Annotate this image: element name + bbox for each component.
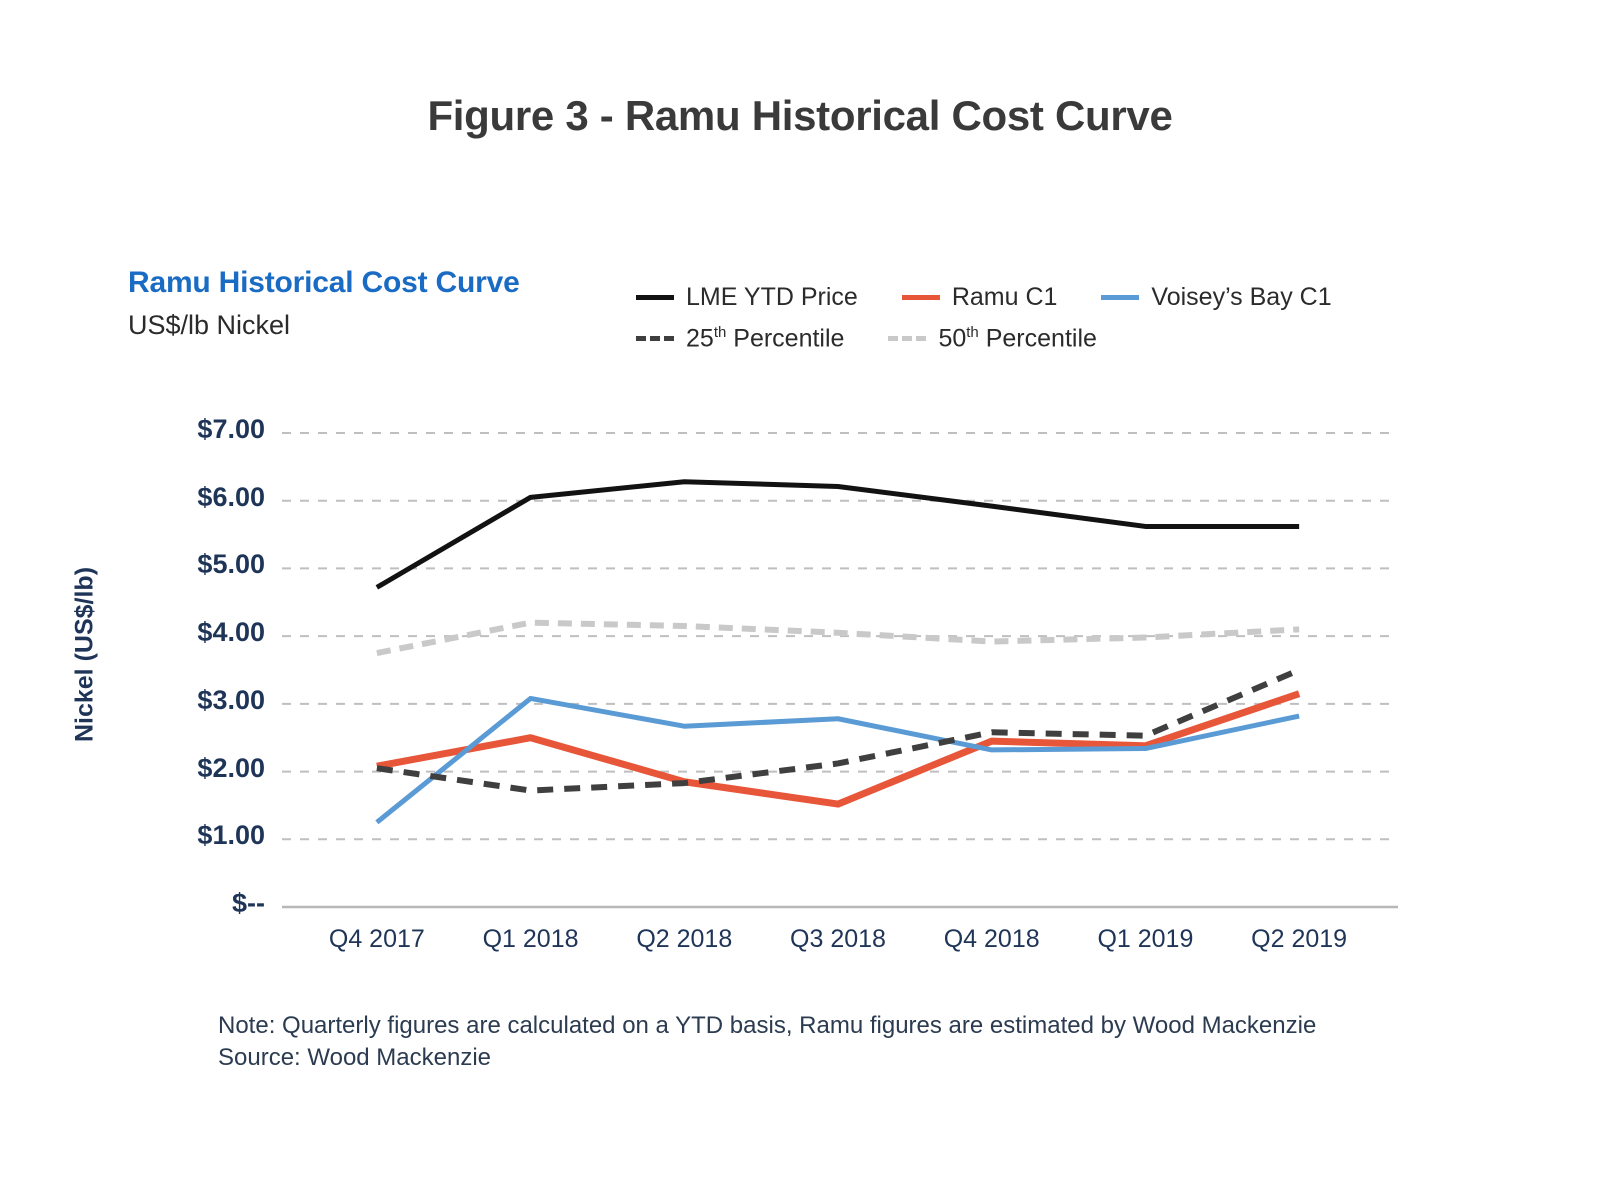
x-axis-tick-label: Q2 2019 — [1209, 925, 1389, 954]
y-axis-tick-label: $4.00 — [145, 617, 265, 648]
y-axis-tick-label: $1.00 — [145, 820, 265, 851]
source-line: Source: Wood Mackenzie — [218, 1042, 1316, 1074]
chart-footnotes: Note: Quarterly figures are calculated o… — [218, 1010, 1316, 1075]
series-line-0 — [377, 482, 1299, 588]
note-line: Note: Quarterly figures are calculated o… — [218, 1010, 1316, 1042]
y-axis-tick-label: $-- — [145, 888, 265, 919]
y-axis-tick-label: $5.00 — [145, 549, 265, 580]
y-axis-tick-label: $6.00 — [145, 482, 265, 513]
y-axis-tick-label: $7.00 — [145, 414, 265, 445]
y-axis-tick-label: $2.00 — [145, 753, 265, 784]
series-line-4 — [377, 623, 1299, 653]
y-axis-tick-label: $3.00 — [145, 685, 265, 716]
series-line-3 — [377, 670, 1299, 791]
